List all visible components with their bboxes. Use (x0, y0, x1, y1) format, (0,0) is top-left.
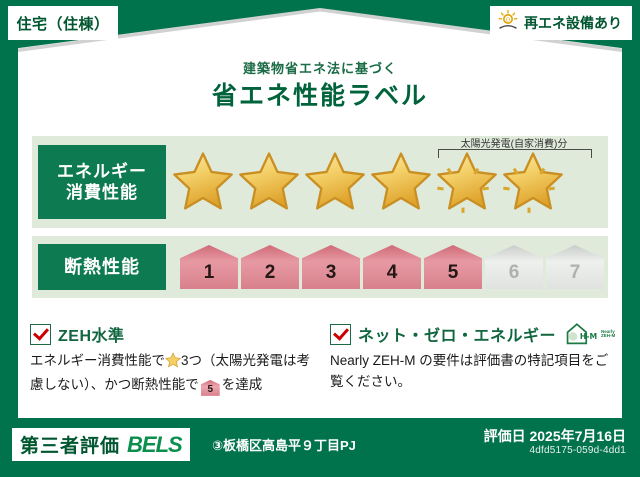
insulation-performance-row: 断熱性能 1234567 (32, 236, 608, 298)
solar-portion-note: 太陽光発電(自家消費)分 (434, 135, 594, 150)
check-icon (330, 324, 351, 345)
insulation-level-scale: 1234567 (166, 236, 608, 298)
svg-text:H-M: H-M (580, 332, 597, 341)
document-id: 4dfd5175-059d-4dd1 (530, 445, 626, 456)
inline-level-badge: 5 (201, 380, 220, 396)
zeh-m-logo-sub2: ZEH-M (601, 334, 615, 339)
label-frame: 住宅（住棟） D 再エネ設備あり 建築物省エネ法に基づく 省エネ性能ラベル (0, 0, 640, 477)
net-zero-energy-body: Nearly ZEH-M の要件は評価書の特記項目をご覧ください。 (330, 351, 616, 393)
insulation-level-6: 6 (485, 245, 543, 289)
star-solar (436, 150, 498, 212)
insulation-level-value: 7 (570, 262, 581, 289)
insulation-level-5: 5 (424, 245, 482, 289)
bels-badge: 第三者評価 BELS (12, 428, 190, 461)
page-title: 省エネ性能ラベル (0, 76, 640, 112)
svg-text:D: D (506, 17, 510, 23)
energy-performance-label: エネルギー 消費性能 (38, 145, 166, 219)
star-filled (370, 150, 432, 212)
insulation-level-2: 2 (241, 245, 299, 289)
house-type-label: 住宅（住棟） (16, 13, 109, 34)
sun-icon: D (496, 9, 520, 38)
net-zero-energy-note: ネット・ゼロ・エネルギー H-M Nearly ZEH-M Nearly ZEH… (330, 322, 616, 393)
insulation-performance-label: 断熱性能 (38, 244, 166, 290)
insulation-level-7: 7 (546, 245, 604, 289)
zeh-m-logo: H-M Nearly ZEH-M (565, 321, 615, 347)
insulation-level-value: 6 (509, 262, 520, 289)
insulation-level-value: 4 (387, 262, 398, 289)
zeh-standard-body: エネルギー消費性能で3つ（太陽光発電は考慮しない）、かつ断熱性能で5を達成 (30, 351, 316, 396)
renewable-energy-badge: D 再エネ設備あり (490, 6, 632, 40)
property-address: ③板橋区高島平９丁目PJ (212, 435, 356, 454)
insulation-level-1: 1 (180, 245, 238, 289)
bels-en-label: BELS (127, 432, 182, 458)
bels-jp-label: 第三者評価 (20, 431, 120, 458)
zeh-standard-title: ZEH水準 (58, 322, 125, 346)
zeh-standard-note: ZEH水準 エネルギー消費性能で3つ（太陽光発電は考慮しない）、かつ断熱性能で5… (30, 322, 316, 396)
evaluation-date: 評価日 2025年7月16日 (484, 426, 626, 446)
insulation-level-value: 2 (265, 262, 276, 289)
net-zero-energy-heading: ネット・ゼロ・エネルギー H-M Nearly ZEH-M (330, 322, 616, 346)
label-subtitle: 建築物省エネ法に基づく (0, 58, 640, 77)
energy-performance-row: エネルギー 消費性能 太陽光発電(自家消費)分 (32, 136, 608, 228)
renewable-energy-label: 再エネ設備あり (524, 13, 622, 33)
house-type-badge: 住宅（住棟） (8, 6, 118, 40)
insulation-level-4: 4 (363, 245, 421, 289)
insulation-level-3: 3 (302, 245, 360, 289)
inline-star-icon (165, 352, 181, 375)
insulation-level-value: 5 (448, 262, 459, 289)
star-filled (238, 150, 300, 212)
star-rating: 太陽光発電(自家消費)分 (166, 136, 608, 228)
star-filled (304, 150, 366, 212)
net-zero-energy-title: ネット・ゼロ・エネルギー (358, 322, 556, 346)
footer-bar: 第三者評価 BELS ③板橋区高島平９丁目PJ 評価日 2025年7月16日 4… (0, 418, 640, 477)
star-filled (172, 150, 234, 212)
insulation-level-value: 3 (326, 262, 337, 289)
star-solar (502, 150, 564, 212)
zeh-standard-heading: ZEH水準 (30, 322, 316, 346)
insulation-level-value: 1 (204, 262, 215, 289)
check-icon (30, 324, 51, 345)
